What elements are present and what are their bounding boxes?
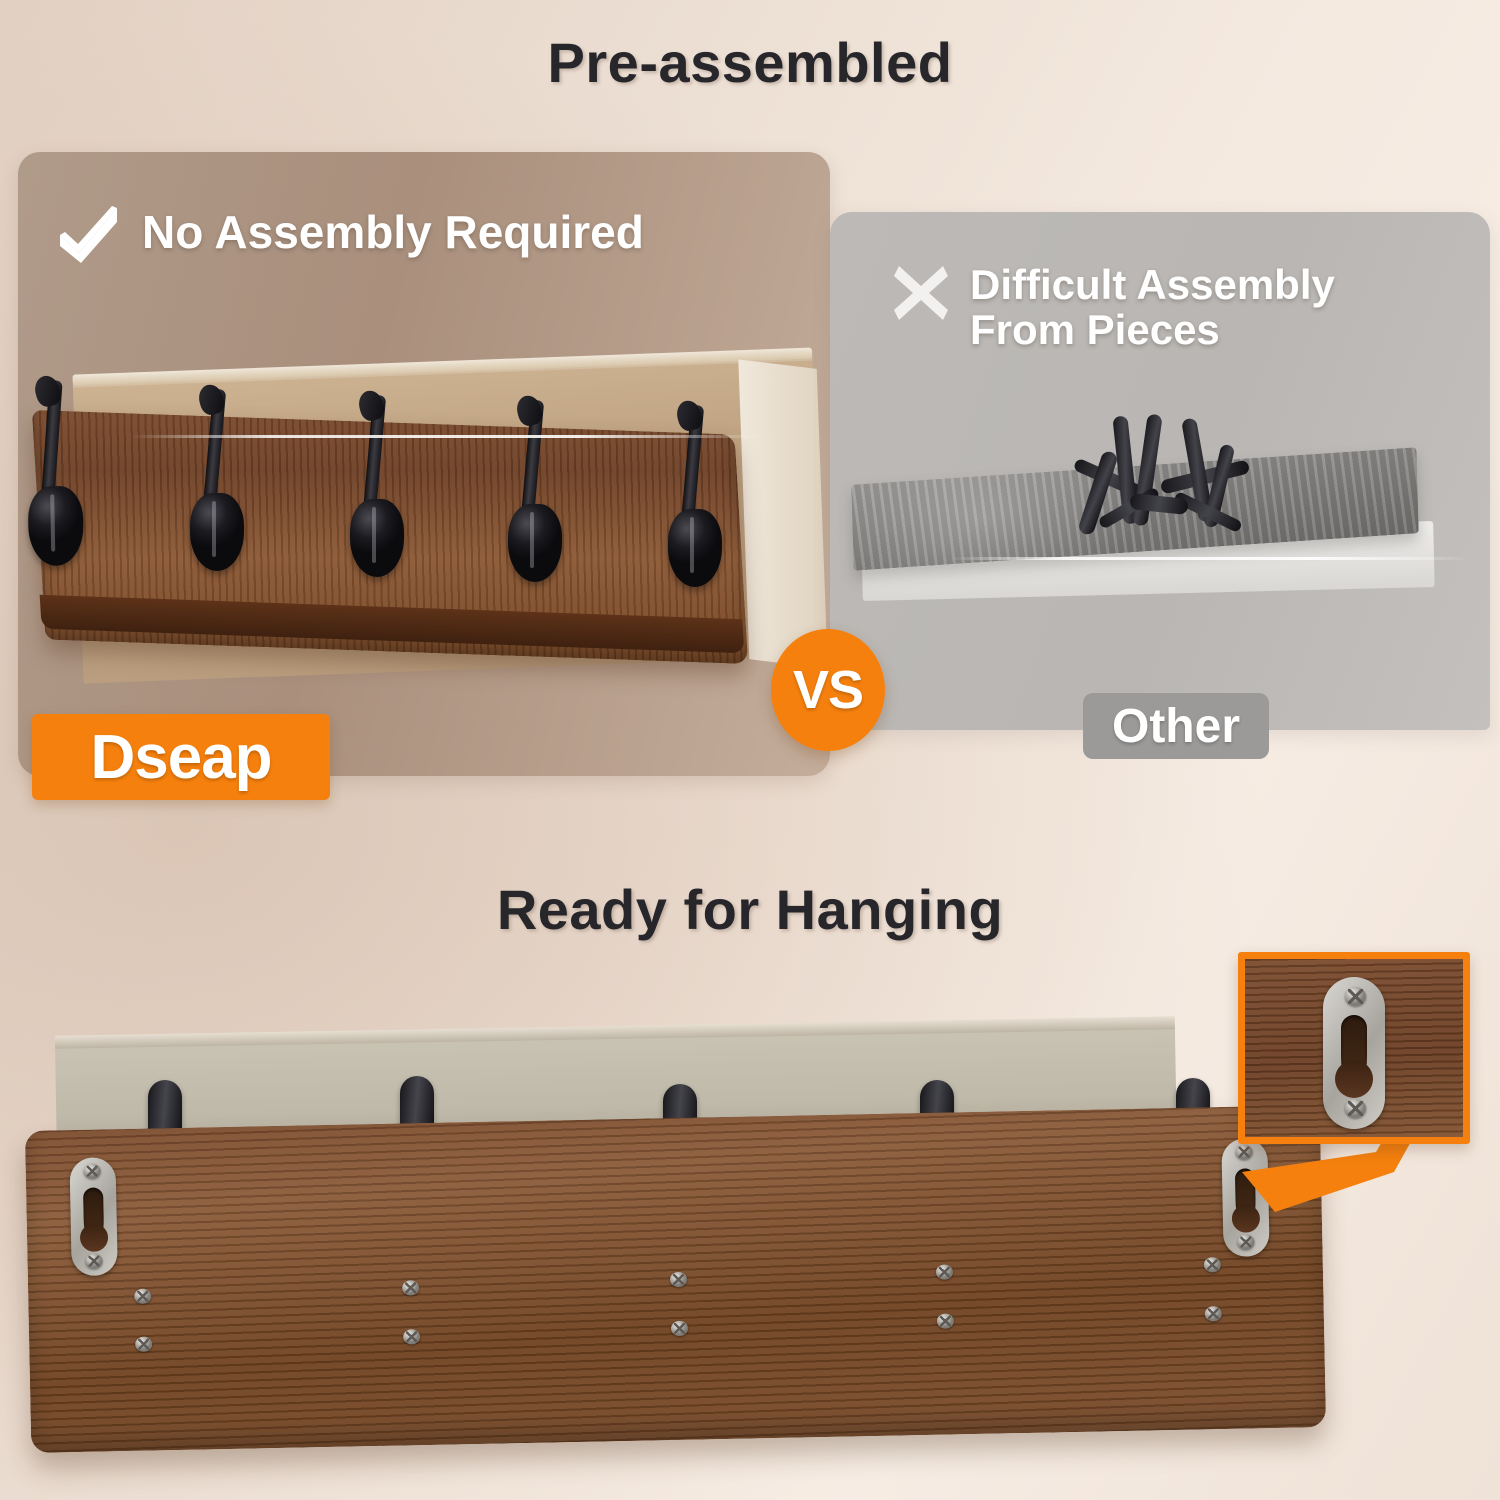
keyhole-slot	[1341, 1015, 1367, 1095]
hook-pad	[28, 486, 84, 567]
page-title-pre-assembled: Pre-assembled	[0, 30, 1500, 95]
hook-stem	[363, 395, 386, 516]
coat-hook	[348, 395, 410, 585]
claim-text-other-line2: From Pieces	[970, 306, 1220, 353]
comparison-panel-other: Difficult Assembly From Pieces	[830, 212, 1490, 730]
claim-block-dseap: No Assembly Required	[56, 204, 644, 264]
divider-line	[130, 435, 770, 438]
screw-icon	[937, 1313, 954, 1328]
hook-stem	[203, 389, 226, 510]
claim-text-other: Difficult Assembly From Pieces	[970, 262, 1335, 353]
claim-text-other-line1: Difficult Assembly	[970, 261, 1335, 308]
screw-icon	[1345, 987, 1366, 1006]
screw-icon	[670, 1272, 687, 1287]
screw-icon	[84, 1164, 101, 1179]
coat-hook	[666, 405, 728, 595]
hook-pad	[350, 499, 404, 577]
keyhole-hanger-plate-detail	[1323, 977, 1385, 1129]
screw-icon	[135, 1337, 152, 1352]
hook-pad	[508, 504, 562, 582]
check-icon	[56, 204, 122, 264]
comparison-panel-dseap: No Assembly Required	[18, 152, 830, 776]
screw-icon	[402, 1280, 419, 1295]
claim-block-other: Difficult Assembly From Pieces	[892, 264, 1335, 353]
callout-detail-keyhole	[1238, 952, 1470, 1144]
screw-icon	[85, 1253, 102, 1268]
brand-badge-other: Other	[1083, 693, 1269, 759]
cardboard-box-side	[738, 359, 827, 668]
loose-hooks-pile	[1044, 410, 1304, 560]
screw-icon	[403, 1329, 420, 1344]
brand-badge-dseap: Dseap	[32, 714, 330, 800]
screw-icon	[671, 1321, 688, 1336]
keyhole-hanger-plate	[69, 1157, 117, 1276]
claim-text-dseap: No Assembly Required	[142, 208, 644, 258]
wood-board-back	[25, 1105, 1326, 1453]
x-icon	[892, 264, 950, 322]
screw-icon	[936, 1264, 953, 1279]
divider-line	[950, 557, 1470, 560]
coat-hook	[188, 389, 250, 579]
hook-pad	[668, 509, 722, 587]
page-title-ready-for-hanging: Ready for Hanging	[0, 877, 1500, 942]
hook-stem	[521, 400, 544, 521]
product-infographic: Pre-assembled Ready for Hanging	[0, 0, 1500, 1500]
hook-pad	[190, 493, 244, 571]
hook-stem	[681, 405, 704, 526]
screw-icon	[1205, 1306, 1222, 1321]
screw-icon	[1345, 1099, 1366, 1118]
versus-badge: VS	[771, 629, 885, 751]
coat-hook	[24, 380, 91, 575]
coat-hook	[506, 400, 568, 590]
hook-stem	[41, 380, 63, 503]
screw-icon	[134, 1289, 151, 1304]
keyhole-slot	[83, 1187, 104, 1249]
